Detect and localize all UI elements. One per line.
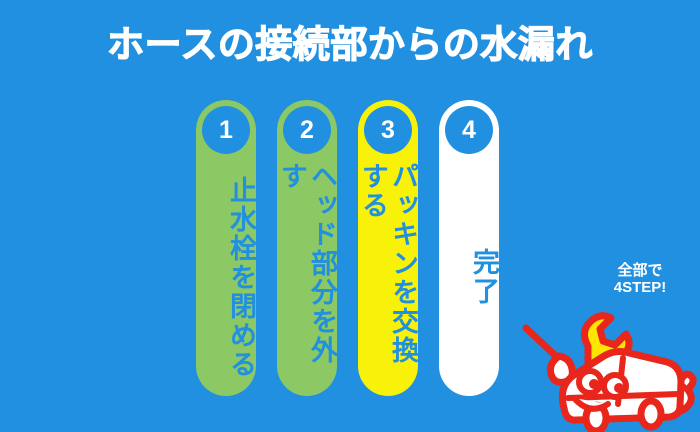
infographic-canvas: ホースの接続部からの水漏れ 1 止水栓を閉める 2 ヘッド部分を外す 3 パッキ… (0, 0, 700, 432)
step-number-badge-1: 1 (202, 106, 250, 154)
step-pill-3[interactable]: 3 パッキンを交換する (358, 100, 418, 396)
step-label-3: パッキンを交換する (358, 162, 418, 392)
step-number-badge-4: 4 (445, 106, 493, 154)
step-number-badge-2: 2 (283, 106, 331, 154)
van-character-icon (518, 296, 700, 432)
page-title: ホースの接続部からの水漏れ (0, 22, 700, 68)
mascot-caption-line-2: 4STEP! (588, 279, 692, 296)
step-pill-2[interactable]: 2 ヘッド部分を外す (277, 100, 337, 396)
step-label-2: ヘッド部分を外す (277, 162, 337, 392)
mascot-caption-line-1: 全部で (588, 262, 692, 279)
step-number-badge-3: 3 (364, 106, 412, 154)
step-pill-4[interactable]: 4 完了 (439, 100, 499, 396)
mascot-caption: 全部で 4STEP! (588, 262, 692, 296)
step-label-1: 止水栓を閉める (196, 162, 256, 392)
steps-list: 1 止水栓を閉める 2 ヘッド部分を外す 3 パッキンを交換する 4 完了 (196, 100, 516, 396)
step-label-4: 完了 (439, 162, 499, 392)
step-pill-1[interactable]: 1 止水栓を閉める (196, 100, 256, 396)
